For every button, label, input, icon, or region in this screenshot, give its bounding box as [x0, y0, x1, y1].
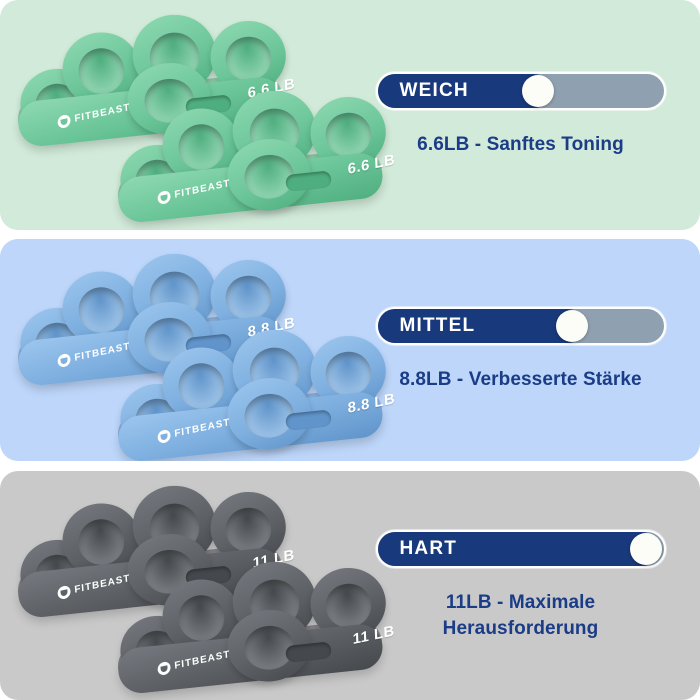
- fitbeast-mark-icon: [157, 190, 171, 205]
- fitbeast-mark-icon: [57, 585, 71, 600]
- strength-slider-medium[interactable]: MITTEL: [376, 307, 666, 345]
- slider-knob[interactable]: [522, 75, 554, 107]
- fitbeast-mark-icon: [57, 353, 71, 368]
- strength-level-label: WEICH: [400, 80, 469, 102]
- fitbeast-mark-icon: [157, 429, 171, 444]
- fitbeast-mark-icon: [57, 114, 71, 129]
- strength-level-label: MITTEL: [400, 315, 476, 337]
- strength-panel-hard: FITBEAST 11 LB FITBEAST 11 LB: [0, 471, 700, 700]
- strength-description: 11LB - Maximale Herausforderung: [371, 590, 671, 640]
- strength-panel-soft: FITBEAST 6.6 LB FITBEAST 6.6 LB: [0, 0, 700, 230]
- product-strength-infographic: FITBEAST 6.6 LB FITBEAST 6.6 LB: [0, 0, 700, 700]
- fitbeast-mark-icon: [157, 661, 171, 676]
- product-image-soft: FITBEAST 6.6 LB FITBEAST 6.6 LB: [0, 0, 355, 230]
- slider-knob[interactable]: [630, 533, 662, 565]
- strength-slider-soft[interactable]: WEICH: [376, 72, 666, 110]
- product-image-medium: FITBEAST 8.8 LB FITBEAST 8.8 LB: [0, 239, 355, 461]
- product-image-hard: FITBEAST 11 LB FITBEAST 11 LB: [0, 471, 355, 700]
- slider-knob[interactable]: [556, 310, 588, 342]
- strength-panel-medium: FITBEAST 8.8 LB FITBEAST 8.8 LB: [0, 239, 700, 461]
- strength-description: 8.8LB - Verbesserte Stärke: [399, 367, 641, 392]
- strength-slider-hard[interactable]: HART: [376, 530, 666, 568]
- strength-description: 6.6LB - Sanftes Toning: [417, 132, 624, 157]
- strength-level-label: HART: [400, 538, 458, 560]
